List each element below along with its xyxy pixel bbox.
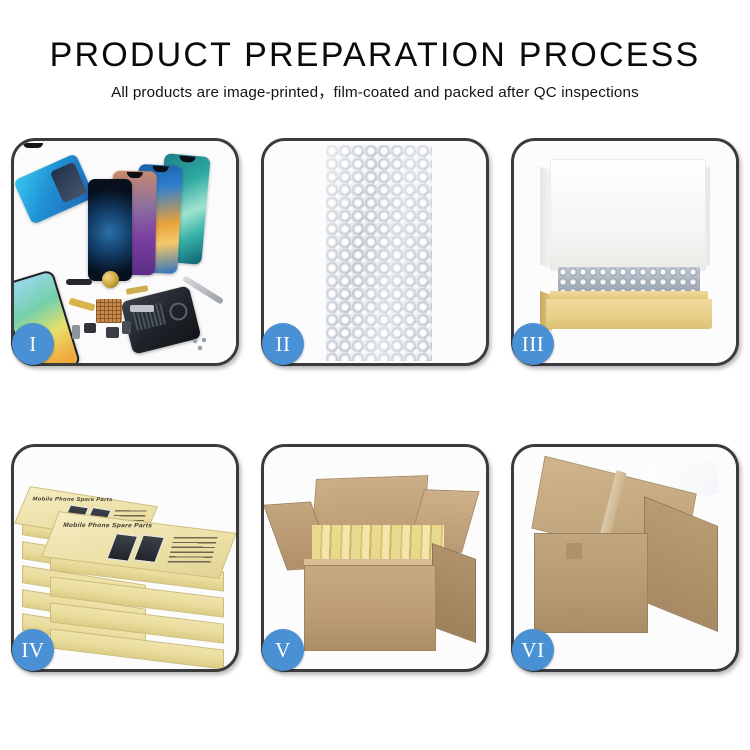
page-title: PRODUCT PREPARATION PROCESS <box>0 36 750 74</box>
speaker-coil-icon <box>102 271 119 288</box>
step-badge-4: IV <box>12 629 54 671</box>
process-step-1: I <box>11 138 239 366</box>
small-component-icon <box>106 327 119 338</box>
step-numeral: V <box>275 640 291 661</box>
process-step-2: II <box>261 138 489 366</box>
white-box-lid-icon <box>550 159 706 271</box>
step-badge-5: V <box>262 629 304 671</box>
packing-tape-icon <box>566 609 582 625</box>
kraft-base-front-icon <box>546 299 712 329</box>
packing-tape-icon <box>566 543 582 559</box>
carton-front-icon <box>304 565 436 651</box>
process-step-5: V <box>261 444 489 672</box>
step-badge-6: VI <box>512 629 554 671</box>
step-numeral: IV <box>21 640 44 661</box>
page-subtitle: All products are image-printed，film-coat… <box>0 84 750 102</box>
step-badge-1: I <box>12 323 54 365</box>
retail-box-label: Mobile Phone Spare Parts <box>62 522 153 529</box>
small-component-icon <box>122 321 131 334</box>
bubble-wrap-icon <box>326 145 432 361</box>
carton-side-icon <box>432 543 476 643</box>
earpiece-part-icon <box>66 279 92 285</box>
small-component-icon <box>72 325 80 339</box>
infographic-page: PRODUCT PREPARATION PROCESS All products… <box>0 0 750 750</box>
step-badge-3: III <box>512 323 554 365</box>
step-numeral: II <box>276 334 291 355</box>
process-step-4: Mobile Phone Spare Parts Mobile Phone Sp… <box>11 444 239 672</box>
process-step-3: III <box>511 138 739 366</box>
retail-box-stack-icon: Mobile Phone Spare Parts Mobile Phone Sp… <box>22 469 234 659</box>
copper-mesh-icon <box>96 299 122 323</box>
process-step-grid: I II <box>11 138 739 672</box>
step-numeral: I <box>29 334 37 355</box>
small-component-icon <box>84 323 96 333</box>
phone-dark-icon <box>88 179 132 281</box>
retail-box-label: Mobile Phone Spare Parts <box>32 497 114 503</box>
screws-icon <box>192 337 214 351</box>
step-numeral: VI <box>521 640 544 661</box>
header: PRODUCT PREPARATION PROCESS All products… <box>0 36 750 102</box>
step-numeral: III <box>522 334 544 355</box>
carton-front-icon <box>534 533 648 633</box>
process-step-6: VI <box>511 444 739 672</box>
carton-side-icon <box>644 496 718 632</box>
step-badge-2: II <box>262 323 304 365</box>
flex-cable-icon <box>130 305 154 312</box>
